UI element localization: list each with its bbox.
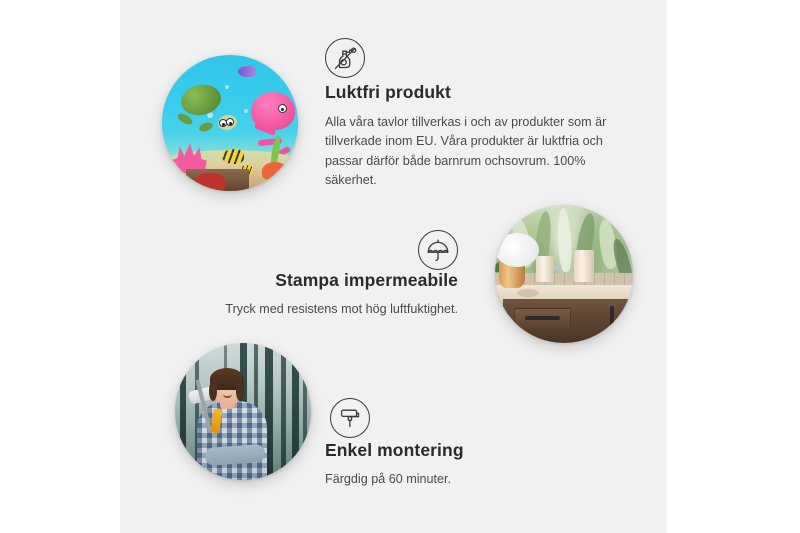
feature-title: Stampa impermeabile [120, 270, 458, 292]
umbrella-icon [418, 230, 458, 270]
feature-description: Alla våra tavlor tillverkas i och av pro… [325, 113, 625, 191]
underwater-cartoon-photo [162, 55, 298, 191]
bathroom-interior-photo [495, 205, 633, 343]
feature-description: Färgdig på 60 minuter. [325, 470, 625, 490]
feature-easy-assembly-text: Enkel montering Färgdig på 60 minuter. [325, 440, 625, 489]
feature-description: Tryck med resistens mot hög luftfuktighe… [120, 300, 458, 320]
feature-title: Enkel montering [325, 440, 625, 462]
feature-panel: Luktfri produkt Alla våra tavlor tillver… [120, 0, 667, 533]
feature-waterproof-text: Stampa impermeabile Tryck med resistens … [120, 270, 458, 319]
feature-odour-free-text: Luktfri produkt Alla våra tavlor tillver… [325, 82, 625, 191]
feature-title: Luktfri produkt [325, 82, 625, 104]
paint-roller-icon [330, 398, 370, 438]
screenshot-root: Luktfri produkt Alla våra tavlor tillver… [0, 0, 800, 533]
no-spray-bottle-icon [325, 38, 365, 78]
woman-with-roller-photo [175, 343, 311, 480]
